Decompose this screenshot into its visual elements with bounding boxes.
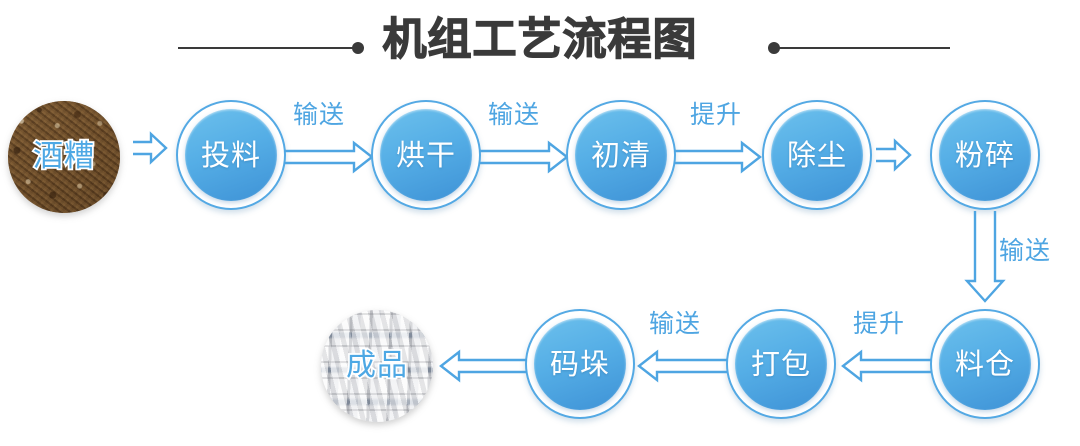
connector-drying-to-cleaning [479,141,573,175]
node-packing: 打包 [726,309,836,419]
node-crushing: 粉碎 [930,100,1040,210]
node-raw-material-label: 酒糟 [8,101,120,213]
node-palletizing-label: 码垛 [550,349,610,379]
connector-drying-to-cleaning-label: 输送 [488,101,540,128]
node-raw-material: 酒糟 [8,101,120,213]
connector-feeding-to-drying-label: 输送 [293,101,345,128]
arrow-right-icon [876,141,910,169]
arrow-left-icon [639,352,727,380]
node-drying: 烘干 [371,100,481,210]
connector-palletizing-to-product [437,350,527,384]
node-dedusting: 除尘 [762,100,872,210]
node-initial-cleaning-label: 初清 [591,140,651,170]
connector-dedusting-to-crushing [876,138,918,172]
node-silo-label: 料仓 [955,349,1015,379]
node-initial-cleaning: 初清 [566,100,676,210]
node-feeding: 投料 [176,100,286,210]
arrow-right-icon [674,143,760,171]
node-disc: 码垛 [534,318,626,410]
node-disc: 投料 [185,109,277,201]
node-crushing-label: 粉碎 [955,140,1015,170]
node-disc: 除尘 [771,109,863,201]
connector-silo-to-packing-label: 提升 [853,310,905,337]
process-flow-diagram: 机组工艺流程图 酒糟 投料 输送 烘干 [0,0,1080,446]
node-finished-product: 成品 [321,310,433,422]
arrow-left-icon [441,352,527,380]
node-dedusting-label: 除尘 [787,140,847,170]
node-disc: 烘干 [380,109,472,201]
connector-cleaning-to-dedusting-label: 提升 [690,101,742,128]
node-disc: 初清 [575,109,667,201]
node-feeding-label: 投料 [201,140,261,170]
connector-silo-to-packing [837,350,931,384]
connector-raw-to-feeding [133,131,173,165]
node-palletizing: 码垛 [525,309,635,419]
node-packing-label: 打包 [751,349,811,379]
node-finished-product-label: 成品 [321,310,433,422]
arrow-left-icon [843,352,931,380]
node-drying-label: 烘干 [396,140,456,170]
node-disc: 打包 [735,318,827,410]
node-disc: 粉碎 [939,109,1031,201]
connector-packing-to-palletizing [633,350,727,384]
arrow-right-icon [284,143,372,171]
connector-feeding-to-drying [284,141,378,175]
connector-crushing-to-silo-label: 输送 [999,237,1051,264]
node-disc: 料仓 [939,318,1031,410]
connector-packing-to-palletizing-label: 输送 [649,310,701,337]
title-rule-right [778,47,950,49]
arrow-down-icon [967,211,1003,301]
connector-cleaning-to-dedusting [674,141,766,175]
arrow-right-icon [479,143,567,171]
arrow-right-icon [133,134,166,162]
page-title: 机组工艺流程图 [0,10,1080,70]
diagram-title-bar: 机组工艺流程图 [0,0,1080,92]
node-silo: 料仓 [930,309,1040,419]
